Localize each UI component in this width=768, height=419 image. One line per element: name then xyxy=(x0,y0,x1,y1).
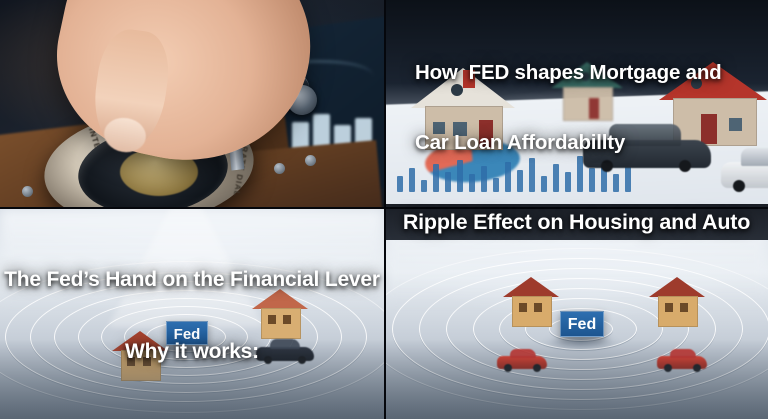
house-model xyxy=(649,277,705,325)
car-model-white xyxy=(721,148,768,194)
image-collage: INTEREST RATE DIAL INTEREST RATE DIAL RA… xyxy=(0,0,768,419)
panel-ripple-effect-housing-auto: Fed xyxy=(385,209,768,419)
fed-badge[interactable]: Fed xyxy=(560,311,604,337)
window xyxy=(534,303,542,312)
caption-bottom-right: Ripple Effect on Housing and Auto xyxy=(385,210,768,235)
caption-top-right-line2: Car Loan Affordabillty xyxy=(415,131,722,154)
caption-top-right: How FED shapes Mortgage and Car Loan Aff… xyxy=(415,14,722,201)
screw-icon xyxy=(22,186,33,197)
panel-hand-on-lever: INTEREST RATE DIAL INTEREST RATE DIAL RA… xyxy=(0,0,384,208)
house-model xyxy=(503,277,559,325)
window xyxy=(680,303,688,312)
caption-top-right-line1: How FED shapes Mortgage and xyxy=(415,61,722,84)
caption-bottom-left: The Fed’s Hand on the Financial Lever Wh… xyxy=(0,220,384,412)
screw-icon xyxy=(274,163,285,174)
window xyxy=(729,118,742,131)
bar-chart-bar xyxy=(397,176,403,192)
wheel xyxy=(733,180,745,192)
screw-icon xyxy=(305,155,316,166)
roof xyxy=(503,277,559,297)
window xyxy=(665,303,673,312)
car-cabin xyxy=(741,148,768,166)
roof xyxy=(649,277,705,297)
pool-shadow xyxy=(385,339,768,419)
window xyxy=(519,303,527,312)
house-body xyxy=(512,296,552,327)
caption-bottom-left-line2: Why it works: xyxy=(0,340,384,364)
caption-bottom-left-line1: The Fed’s Hand on the Financial Lever xyxy=(0,268,384,292)
house-body xyxy=(658,296,698,327)
panel-divider-horizontal xyxy=(0,207,768,209)
